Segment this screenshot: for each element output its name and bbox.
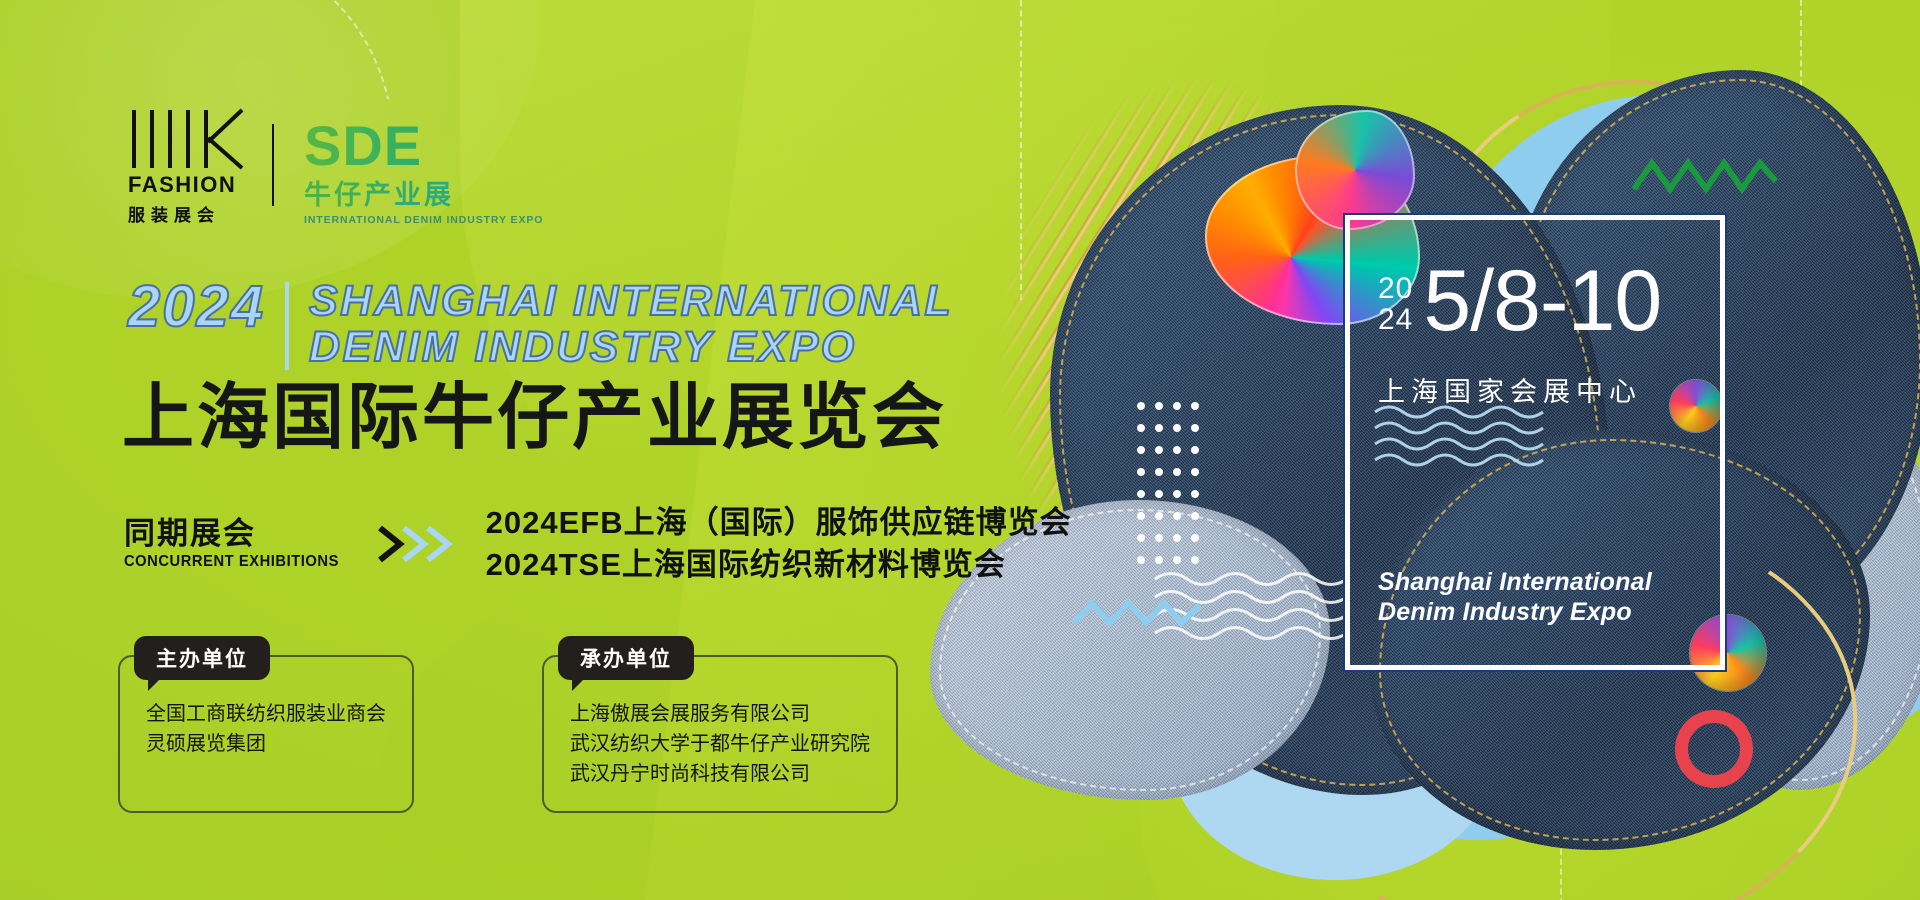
organizer-line: 全国工商联纺织服装业商会 <box>146 699 386 729</box>
date-range: 5/8-10 <box>1423 262 1661 341</box>
sde-english-text: INTERNATIONAL DENIM INDUSTRY EXPO <box>304 214 543 226</box>
title-english-line2: DENIM INDUSTRY EXPO <box>309 324 953 370</box>
logo-divider <box>272 124 274 206</box>
concurrent-label-cn: 同期展会 <box>124 518 358 549</box>
organizer-box-host: 主办单位 全国工商联纺织服装业商会 灵硕展览集团 <box>118 655 414 813</box>
organizer-tag: 承办单位 <box>558 636 694 680</box>
double-chevron-right-icon <box>374 520 464 568</box>
dot-grid-icon <box>1135 400 1215 585</box>
sde-logo: SDE 牛仔产业展 INTERNATIONAL DENIM INDUSTRY E… <box>304 119 543 226</box>
organizer-tag: 主办单位 <box>134 636 270 680</box>
title-english-block: 2024 SHANGHAI INTERNATIONAL DENIM INDUST… <box>128 278 953 371</box>
organizer-line: 上海傲展会展服务有限公司 <box>570 699 870 729</box>
sde-wordmark: SDE <box>304 119 543 172</box>
date-card-english-line1: Shanghai International <box>1378 568 1652 598</box>
organizer-line: 灵硕展览集团 <box>146 729 386 759</box>
sde-chinese-text: 牛仔产业展 <box>304 173 543 212</box>
title-english-lines: SHANGHAI INTERNATIONAL DENIM INDUSTRY EX… <box>309 278 953 371</box>
title-english-line1: SHANGHAI INTERNATIONAL <box>309 278 953 324</box>
organizer-line: 武汉丹宁时尚科技有限公司 <box>570 759 870 789</box>
title-divider <box>285 282 289 370</box>
link-fashion-logo: FASHION 服装展会 <box>128 108 246 226</box>
title-chinese: 上海国际牛仔产业展览会 <box>122 382 947 454</box>
date-card-english: Shanghai International Denim Industry Ex… <box>1378 568 1652 627</box>
organizer-line: 武汉纺织大学于都牛仔产业研究院 <box>570 729 870 759</box>
venue-name: 上海国家会展中心 <box>1378 370 1642 409</box>
title-year: 2024 <box>128 278 265 336</box>
logo-group: FASHION 服装展会 SDE 牛仔产业展 INTERNATIONAL DEN… <box>128 108 543 226</box>
date-card-english-line2: Denim Industry Expo <box>1378 598 1652 628</box>
red-ring-icon <box>1675 710 1753 788</box>
expo-poster: 20 24 5/8-10 上海国家会展中心 Shanghai Internati… <box>0 0 1920 900</box>
concurrent-list: 2024EFB上海（国际）服饰供应链博览会 2024TSE上海国际纺织新材料博览… <box>486 502 1072 586</box>
concurrent-item: 2024TSE上海国际纺织新材料博览会 <box>486 544 1072 586</box>
concurrent-item: 2024EFB上海（国际）服饰供应链博览会 <box>486 502 1072 544</box>
date-year-top: 20 <box>1378 274 1413 305</box>
date-row: 20 24 5/8-10 <box>1378 262 1661 341</box>
date-year-bottom: 24 <box>1378 305 1413 336</box>
date-card-inner: 20 24 5/8-10 上海国家会展中心 Shanghai Internati… <box>1350 220 1720 665</box>
link-fashion-text: FASHION <box>128 172 246 198</box>
concurrent-label-en: CONCURRENT EXHIBITIONS <box>124 554 339 570</box>
concurrent-label: 同期展会 CONCURRENT EXHIBITIONS <box>124 518 358 570</box>
zigzag-blue-icon <box>1070 595 1210 629</box>
concurrent-exhibitions: 同期展会 CONCURRENT EXHIBITIONS 2024EFB上海（国际… <box>124 502 1072 586</box>
date-card: 20 24 5/8-10 上海国家会展中心 Shanghai Internati… <box>1345 215 1725 670</box>
organizer-box-organizer: 承办单位 上海傲展会展服务有限公司 武汉纺织大学于都牛仔产业研究院 武汉丹宁时尚… <box>542 655 898 813</box>
zigzag-green-icon <box>1630 155 1780 195</box>
link-wordmark-icon <box>128 108 246 170</box>
date-year: 20 24 <box>1378 274 1413 335</box>
link-chinese-text: 服装展会 <box>128 201 246 226</box>
organizer-group: 主办单位 全国工商联纺织服装业商会 灵硕展览集团 承办单位 上海傲展会展服务有限… <box>118 655 898 813</box>
